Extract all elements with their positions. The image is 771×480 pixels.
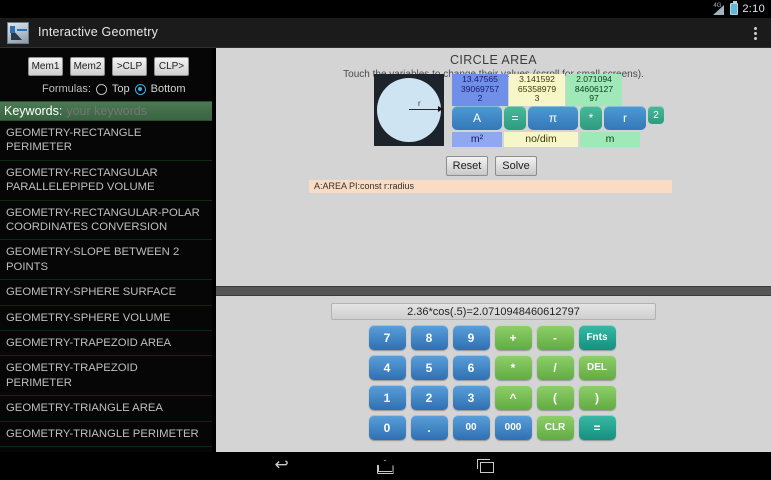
keypad-row: 1 2 3 ^ ( ) xyxy=(369,385,619,410)
action-row: Reset Solve xyxy=(446,156,537,176)
key-0[interactable]: 0 xyxy=(369,415,406,440)
formula-equals[interactable]: = xyxy=(504,106,526,130)
app-logo-icon xyxy=(7,22,29,44)
radius-label: r xyxy=(418,99,421,108)
key-paren-open[interactable]: ( xyxy=(537,385,574,410)
key-double-zero[interactable]: 00 xyxy=(453,415,490,440)
recents-icon[interactable] xyxy=(475,458,497,474)
variable-values-row: 13.47565 39069757 2 3.141592 65358979 3 … xyxy=(452,74,622,106)
key-clear[interactable]: CLR xyxy=(537,415,574,440)
signal-icon: 4G xyxy=(713,4,726,15)
key-paren-close[interactable]: ) xyxy=(579,385,616,410)
memory-button-row: Mem1 Mem2 >CLP CLP> xyxy=(0,48,212,76)
key-4[interactable]: 4 xyxy=(369,355,406,380)
list-item[interactable]: GEOMETRY-TRAPEZOID AREA xyxy=(0,331,212,356)
value-radius[interactable]: 2.071094 84606127 97 xyxy=(566,74,622,106)
keywords-bar: Keywords: xyxy=(0,101,212,121)
formula-panel: CIRCLE AREA Touch the variables to chang… xyxy=(216,48,771,286)
status-clock: 2:10 xyxy=(742,3,765,15)
key-7[interactable]: 7 xyxy=(369,325,406,350)
list-item[interactable]: GEOMETRY-SPHERE VOLUME xyxy=(0,306,212,331)
key-multiply[interactable]: * xyxy=(495,355,532,380)
formula-multiply[interactable]: * xyxy=(580,106,602,130)
key-delete[interactable]: DEL xyxy=(579,355,616,380)
key-minus[interactable]: - xyxy=(537,325,574,350)
list-item[interactable]: GEOMETRY-TRIANGLE PERIMETER xyxy=(0,422,212,447)
calculator-display[interactable]: 2.36*cos(.5)=2.0710948460612797 xyxy=(331,303,656,320)
app-title: Interactive Geometry xyxy=(38,25,158,39)
key-8[interactable]: 8 xyxy=(411,325,448,350)
formula-var-pi[interactable]: π xyxy=(528,106,578,130)
list-item[interactable]: GEOMETRY-RECTANGULAR-POLAR COORDINATES C… xyxy=(0,201,212,241)
formulas-bottom-radio[interactable] xyxy=(135,84,146,95)
value-pi[interactable]: 3.141592 65358979 3 xyxy=(509,74,565,106)
key-1[interactable]: 1 xyxy=(369,385,406,410)
mem2-button[interactable]: Mem2 xyxy=(70,57,105,76)
formula-exponent[interactable]: 2 xyxy=(648,106,664,124)
keywords-input[interactable] xyxy=(62,104,227,118)
unit-pi: no/dim xyxy=(504,132,578,147)
formula-expression-row: A = π * r 2 xyxy=(452,106,664,130)
keypad-row: 4 5 6 * / DEL xyxy=(369,355,619,380)
key-9[interactable]: 9 xyxy=(453,325,490,350)
solve-button[interactable]: Solve xyxy=(495,156,537,176)
keywords-label: Keywords: xyxy=(4,104,62,118)
key-plus[interactable]: + xyxy=(495,325,532,350)
formulas-position-row: Formulas: Top Bottom xyxy=(0,76,212,101)
unit-radius: m xyxy=(580,132,640,147)
value-radius-l3: 97 xyxy=(568,94,620,104)
page-title: CIRCLE AREA xyxy=(216,48,771,67)
key-power[interactable]: ^ xyxy=(495,385,532,410)
mem1-button[interactable]: Mem1 xyxy=(28,57,63,76)
back-icon[interactable] xyxy=(275,458,297,474)
diagram-wrapper: r xyxy=(374,74,444,146)
panel-divider[interactable] xyxy=(216,286,771,296)
formula-units-row: m² no/dim m xyxy=(452,132,640,147)
key-2[interactable]: 2 xyxy=(411,385,448,410)
formula-var-a[interactable]: A xyxy=(452,106,502,130)
value-pi-l3: 3 xyxy=(511,94,563,104)
key-equals[interactable]: = xyxy=(579,415,616,440)
list-item[interactable]: GEOMETRY-SLOPE BETWEEN 2 POINTS xyxy=(0,240,212,280)
calculator-keypad: 7 8 9 + - Fnts 4 5 6 * / DEL 1 2 xyxy=(369,325,619,440)
key-5[interactable]: 5 xyxy=(411,355,448,380)
key-divide[interactable]: / xyxy=(537,355,574,380)
overflow-menu-icon[interactable] xyxy=(747,25,763,42)
formula-list[interactable]: GEOMETRY-RECTANGLE PERIMETER GEOMETRY-RE… xyxy=(0,121,212,451)
variable-legend: A:AREA PI:const r:radius xyxy=(309,180,672,193)
navigation-bar xyxy=(0,452,771,480)
formula-var-r[interactable]: r xyxy=(604,106,646,130)
list-item[interactable]: MATHEMATICAL CONSTANTS xyxy=(0,447,212,451)
formulas-top-radio[interactable] xyxy=(96,84,107,95)
to-clipboard-button[interactable]: >CLP xyxy=(112,57,147,76)
android-screen: 4G 2:10 Interactive Geometry Mem1 Mem2 >… xyxy=(0,0,771,480)
value-area-l3: 2 xyxy=(454,94,506,104)
circle-diagram-icon: r xyxy=(374,74,444,146)
list-item[interactable]: GEOMETRY-TRIANGLE AREA xyxy=(0,396,212,421)
key-6[interactable]: 6 xyxy=(453,355,490,380)
from-clipboard-button[interactable]: CLP> xyxy=(154,57,189,76)
key-fnts[interactable]: Fnts xyxy=(579,325,616,350)
key-3[interactable]: 3 xyxy=(453,385,490,410)
main-content: CIRCLE AREA Touch the variables to chang… xyxy=(216,48,771,452)
value-area[interactable]: 13.47565 39069757 2 xyxy=(452,74,508,106)
keypad-row: 7 8 9 + - Fnts xyxy=(369,325,619,350)
list-item[interactable]: GEOMETRY-RECTANGULAR PARALLELEPIPED VOLU… xyxy=(0,161,212,201)
key-decimal[interactable]: . xyxy=(411,415,448,440)
battery-icon xyxy=(730,3,738,15)
calculator-panel: 2.36*cos(.5)=2.0710948460612797 7 8 9 + … xyxy=(216,296,771,452)
reset-button[interactable]: Reset xyxy=(446,156,488,176)
sidebar: Mem1 Mem2 >CLP CLP> Formulas: Top Bottom… xyxy=(0,48,214,452)
action-bar: Interactive Geometry xyxy=(0,18,771,48)
formulas-label: Formulas: xyxy=(42,83,91,95)
keypad-row: 0 . 00 000 CLR = xyxy=(369,415,619,440)
home-icon[interactable] xyxy=(375,458,397,474)
status-bar: 4G 2:10 xyxy=(0,0,771,18)
list-item[interactable]: GEOMETRY-RECTANGLE PERIMETER xyxy=(0,121,212,161)
formulas-top-label[interactable]: Top xyxy=(112,83,130,95)
unit-area: m² xyxy=(452,132,502,147)
key-triple-zero[interactable]: 000 xyxy=(495,415,532,440)
list-item[interactable]: GEOMETRY-TRAPEZOID PERIMETER xyxy=(0,356,212,396)
formulas-bottom-label[interactable]: Bottom xyxy=(151,83,186,95)
list-item[interactable]: GEOMETRY-SPHERE SURFACE xyxy=(0,280,212,305)
